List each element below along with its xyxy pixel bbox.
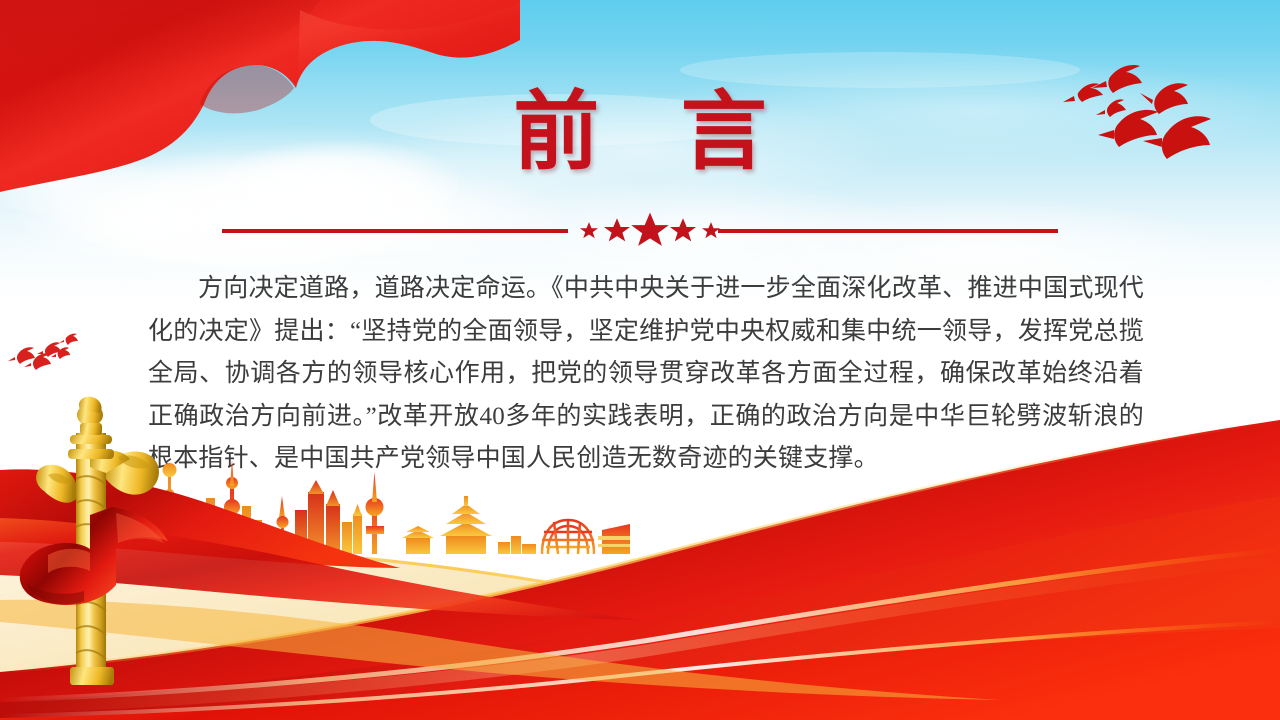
star-icon (702, 222, 720, 238)
star-group (580, 213, 720, 246)
divider-with-stars (0, 206, 1280, 256)
ribbon-decoration (0, 400, 1280, 720)
presentation-slide: 前 言 方向决定道路，道路决定命运。《中共中央关于进一步全面深化改革、推进中国式… (0, 0, 1280, 720)
star-icon (670, 218, 696, 241)
star-icon (580, 222, 598, 238)
page-title: 前 言 (0, 84, 1280, 180)
star-icon (631, 213, 669, 246)
dove-flock-left-icon (8, 330, 118, 400)
huabiao-column-icon (18, 395, 188, 685)
star-icon (604, 218, 630, 241)
